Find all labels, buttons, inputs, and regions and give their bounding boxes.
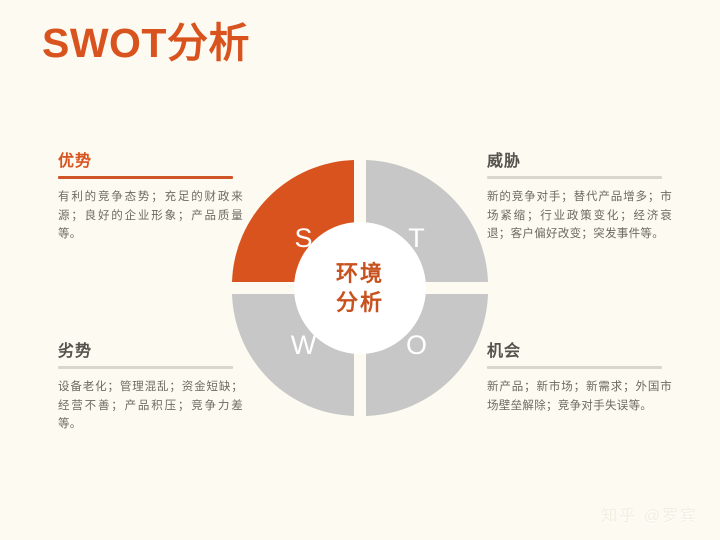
donut-center-hub: 环境 分析: [294, 222, 426, 354]
quadrant-threats-body: 新的竞争对手；替代产品增多；市场紧缩；行业政策变化；经济衰退；客户偏好改变；突发…: [487, 188, 672, 244]
quadrant-strengths-body: 有利的竞争态势；充足的财政来源；良好的企业形象；产品质量等。: [58, 188, 243, 244]
center-label-line1: 环境: [336, 259, 384, 288]
quadrant-strengths-heading: 优势: [58, 152, 243, 171]
swot-slide: SWOT分析 优势 有利的竞争态势；充足的财政来源；良好的企业形象；产品质量等。…: [0, 0, 720, 540]
quadrant-threats: 威胁 新的竞争对手；替代产品增多；市场紧缩；行业政策变化；经济衰退；客户偏好改变…: [487, 152, 672, 244]
quadrant-opportunities: 机会 新产品；新市场；新需求；外国市场壁垒解除；竞争对手失误等。: [487, 342, 672, 415]
quadrant-strengths-rule: [58, 176, 233, 179]
quadrant-opportunities-rule: [487, 366, 662, 369]
quadrant-strengths: 优势 有利的竞争态势；充足的财政来源；良好的企业形象；产品质量等。: [58, 152, 243, 244]
quadrant-weaknesses: 劣势 设备老化；管理混乱；资金短缺；经营不善；产品积压；竞争力差等。: [58, 342, 243, 434]
quadrant-threats-rule: [487, 176, 662, 179]
page-title: SWOT分析: [42, 21, 250, 66]
quadrant-opportunities-heading: 机会: [487, 342, 672, 361]
quadrant-weaknesses-rule: [58, 366, 233, 369]
quadrant-weaknesses-body: 设备老化；管理混乱；资金短缺；经营不善；产品积压；竞争力差等。: [58, 378, 243, 434]
swot-donut-chart: S T W O 环境 分析: [232, 160, 488, 416]
donut-label-o: O: [406, 330, 428, 360]
watermark: 知乎 @罗宾: [601, 502, 698, 526]
quadrant-opportunities-body: 新产品；新市场；新需求；外国市场壁垒解除；竞争对手失误等。: [487, 378, 672, 415]
quadrant-threats-heading: 威胁: [487, 152, 672, 171]
quadrant-weaknesses-heading: 劣势: [58, 342, 243, 361]
center-label-line2: 分析: [336, 288, 384, 317]
